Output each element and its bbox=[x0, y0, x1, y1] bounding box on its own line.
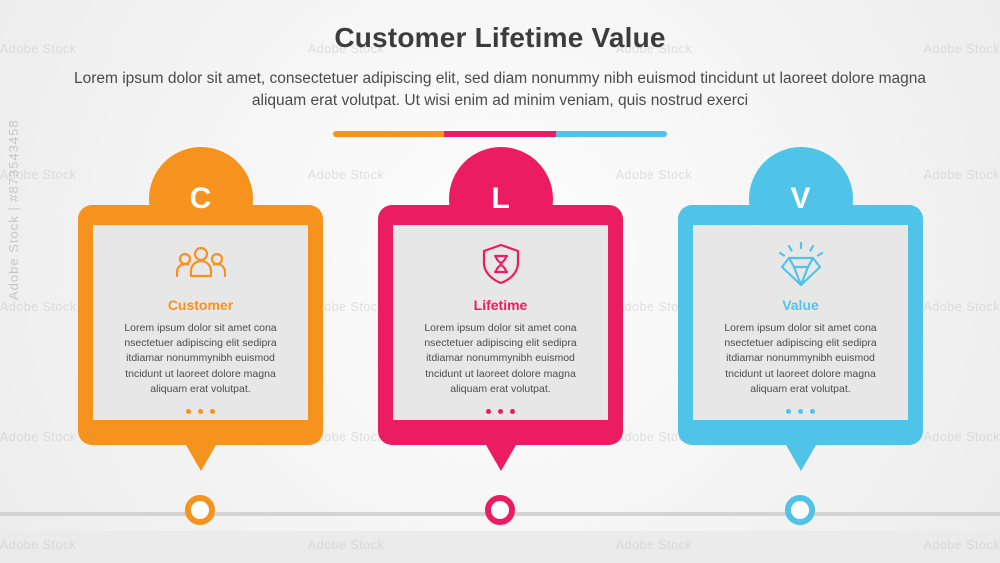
hourglass-shield-icon bbox=[479, 239, 523, 289]
page-title: Customer Lifetime Value bbox=[0, 22, 1000, 54]
card-title: Lifetime bbox=[474, 297, 528, 313]
diamond-icon bbox=[775, 239, 827, 289]
accent-bar bbox=[333, 131, 667, 137]
timeline-node-lifetime[interactable] bbox=[485, 495, 515, 525]
card-title: Value bbox=[782, 297, 819, 313]
bubble-tail bbox=[786, 445, 816, 471]
card-description: Lorem ipsum dolor sit amet cona nsectetu… bbox=[411, 321, 591, 397]
watermark-tile: Adobe Stock bbox=[0, 300, 76, 314]
card-dots bbox=[786, 409, 815, 414]
accent-segment-orange bbox=[333, 131, 444, 137]
slide-canvas: Adobe Stock Adobe Stock Adobe Stock Adob… bbox=[0, 0, 1000, 563]
card-description: Lorem ipsum dolor sit amet cona nsectetu… bbox=[111, 321, 291, 397]
timeline-node-customer[interactable] bbox=[185, 495, 215, 525]
card-lifetime[interactable]: L Lifetime Lorem ipsum dolor sit amet co… bbox=[378, 205, 623, 445]
watermark-side-label: Adobe Stock | #873543458 bbox=[6, 119, 21, 300]
watermark-tile: Adobe Stock bbox=[308, 168, 384, 182]
page-subtitle: Lorem ipsum dolor sit amet, consectetuer… bbox=[70, 68, 930, 112]
watermark-tile: Adobe Stock bbox=[924, 300, 1000, 314]
timeline-node-value[interactable] bbox=[785, 495, 815, 525]
watermark-tile: Adobe Stock bbox=[0, 168, 76, 182]
card-value[interactable]: V Value Lorem ipsum dolor sit amet cona … bbox=[678, 205, 923, 445]
bottom-strip bbox=[0, 531, 1000, 563]
accent-segment-pink bbox=[444, 131, 555, 137]
people-group-icon bbox=[176, 239, 226, 289]
badge-letter: V bbox=[790, 182, 810, 216]
card-panel: Value Lorem ipsum dolor sit amet cona ns… bbox=[693, 225, 908, 420]
bubble-tail bbox=[486, 445, 516, 471]
card-panel: Customer Lorem ipsum dolor sit amet cona… bbox=[93, 225, 308, 420]
card-customer[interactable]: C Customer Lorem ipsum dolor sit amet co… bbox=[78, 205, 323, 445]
bubble-tail bbox=[186, 445, 216, 471]
card-description: Lorem ipsum dolor sit amet cona nsectetu… bbox=[711, 321, 891, 397]
watermark-tile: Adobe Stock bbox=[924, 168, 1000, 182]
watermark-tile: Adobe Stock bbox=[924, 430, 1000, 444]
card-panel: Lifetime Lorem ipsum dolor sit amet cona… bbox=[393, 225, 608, 420]
watermark-tile: Adobe Stock bbox=[0, 430, 76, 444]
card-dots bbox=[486, 409, 515, 414]
badge-letter: C bbox=[190, 182, 212, 216]
card-dots bbox=[186, 409, 215, 414]
badge-letter: L bbox=[491, 182, 509, 216]
card-title: Customer bbox=[168, 297, 233, 313]
accent-segment-blue bbox=[556, 131, 667, 137]
watermark-tile: Adobe Stock bbox=[616, 168, 692, 182]
